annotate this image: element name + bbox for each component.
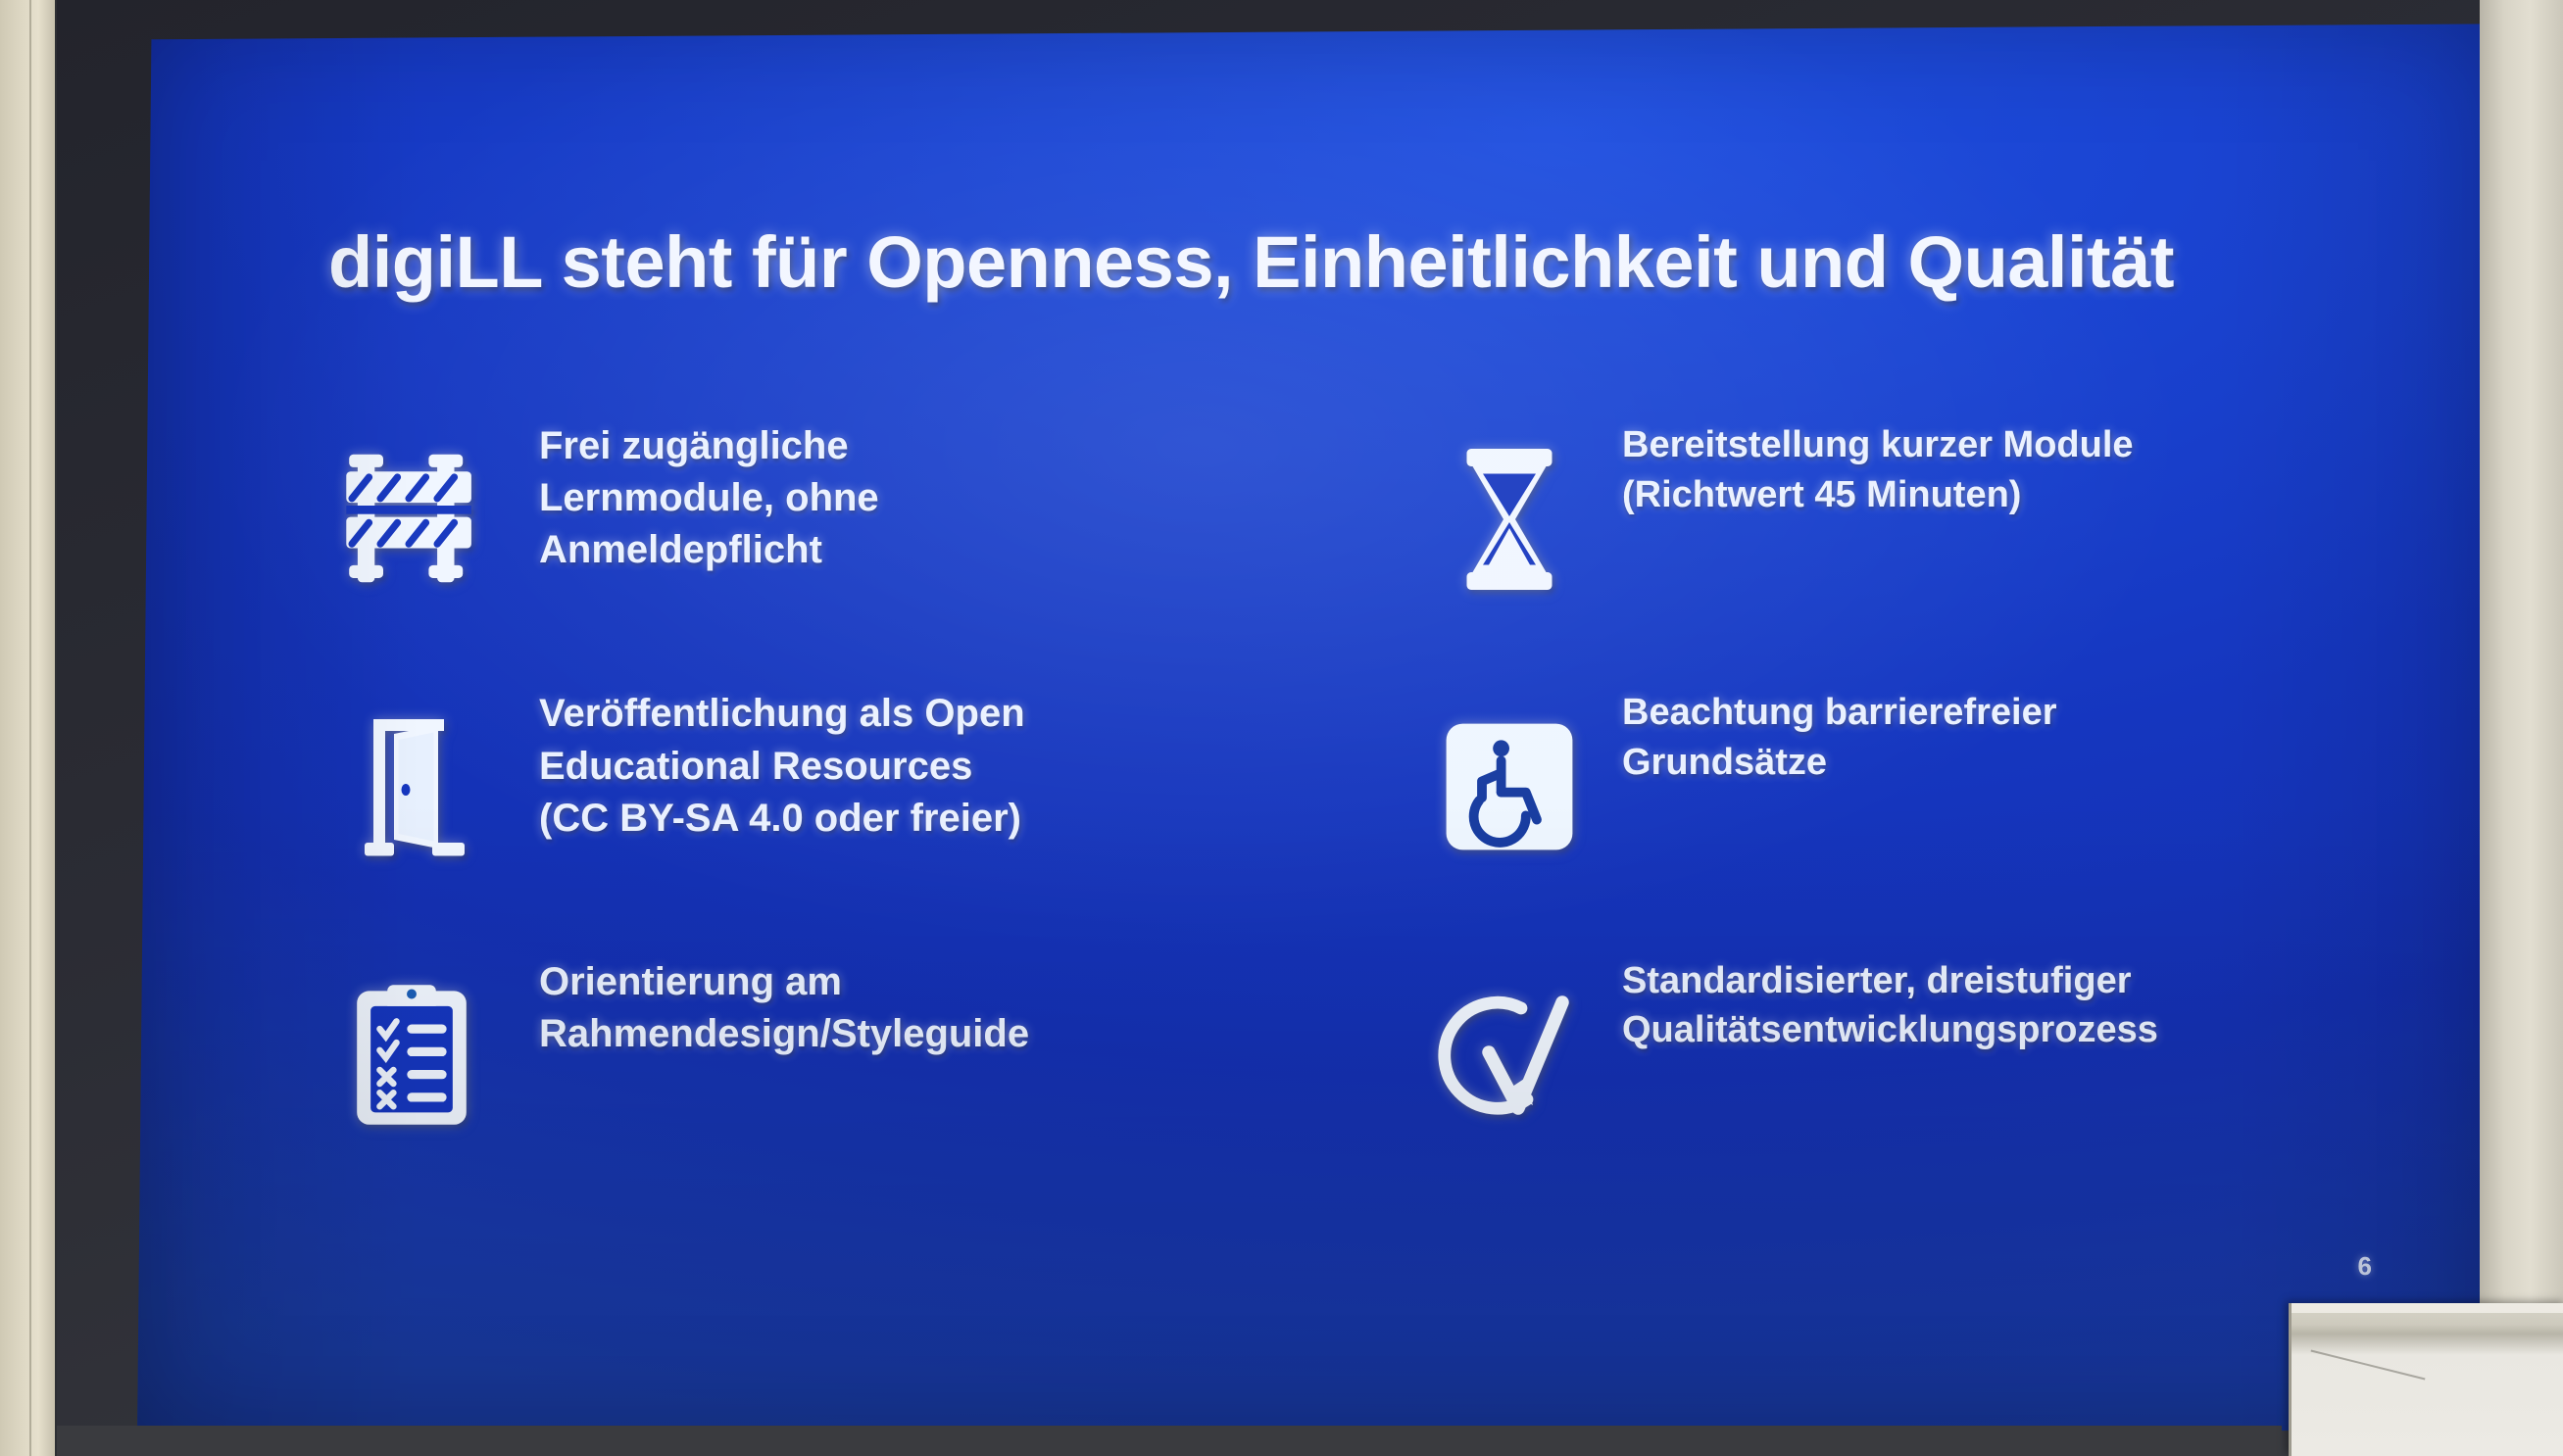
feature-text-open-access: Frei zugängliche Lernmodule, ohne Anmeld… — [539, 407, 1308, 577]
feature-item-accessibility: Beachtung barrierefreier Grundsätze — [1397, 674, 2421, 912]
feature-item-styleguide: Orientierung am Rahmendesign/Styleguide — [284, 943, 1308, 1181]
construction-barrier-icon — [284, 407, 539, 632]
presentation-slide: digiLL steht für Openness, Einheitlichke… — [137, 20, 2499, 1438]
flipchart-crease — [2311, 1350, 2426, 1381]
feature-line: Standardisierter, dreistufiger — [1622, 956, 2421, 1006]
wall-right — [2480, 0, 2563, 1456]
open-door-icon — [284, 674, 539, 899]
circular-arrow-check-icon — [1397, 943, 1622, 1168]
feature-text-accessibility: Beachtung barrierefreier Grundsätze — [1622, 674, 2421, 787]
feature-line: (CC BY-SA 4.0 oder freier) — [539, 793, 1308, 845]
clipboard-checklist-icon — [284, 943, 539, 1168]
slide-title: digiLL steht für Openness, Einheitlichke… — [328, 220, 2347, 304]
floor-strip — [57, 1426, 2282, 1456]
feature-text-module-length: Bereitstellung kurzer Module (Richtwert … — [1622, 407, 2421, 519]
feature-line: Frei zugängliche — [539, 420, 1308, 472]
feature-text-oer-license: Veröffentlichung als Open Educational Re… — [539, 674, 1308, 845]
feature-line: Bereitstellung kurzer Module — [1622, 420, 2421, 470]
wall-left — [0, 0, 55, 1456]
slide-feature-grid: Frei zugängliche Lernmodule, ohne Anmeld… — [284, 407, 2421, 1181]
feature-line: Qualitätsentwicklungsprozess — [1622, 1005, 2421, 1055]
slide-page-number: 6 — [2358, 1251, 2372, 1282]
feature-line: Educational Resources — [539, 741, 1308, 793]
projection-screen-bezel: digiLL steht für Openness, Einheitlichke… — [57, 0, 2480, 1456]
flipchart-board — [2289, 1303, 2563, 1456]
feature-line: Grundsätze — [1622, 738, 2421, 788]
room-scene: digiLL steht für Openness, Einheitlichke… — [0, 0, 2563, 1456]
hourglass-icon — [1397, 407, 1622, 632]
feature-item-quality-process: Standardisierter, dreistufiger Qualitäts… — [1397, 943, 2421, 1181]
feature-line: Beachtung barrierefreier — [1622, 688, 2421, 738]
feature-item-open-access: Frei zugängliche Lernmodule, ohne Anmeld… — [284, 407, 1308, 645]
feature-line: Lernmodule, ohne — [539, 472, 1308, 524]
feature-line: (Richtwert 45 Minuten) — [1622, 470, 2421, 520]
feature-line: Rahmendesign/Styleguide — [539, 1008, 1308, 1060]
feature-text-quality-process: Standardisierter, dreistufiger Qualitäts… — [1622, 943, 2421, 1055]
feature-item-module-length: Bereitstellung kurzer Module (Richtwert … — [1397, 407, 2421, 645]
feature-line: Orientierung am — [539, 956, 1308, 1008]
feature-line: Veröffentlichung als Open — [539, 688, 1308, 740]
wheelchair-accessibility-icon — [1397, 674, 1622, 899]
feature-text-styleguide: Orientierung am Rahmendesign/Styleguide — [539, 943, 1308, 1060]
wall-seam — [29, 0, 31, 1456]
flipchart-top-edge — [2292, 1303, 2563, 1313]
feature-line: Anmeldepflicht — [539, 524, 1308, 576]
feature-item-oer-license: Veröffentlichung als Open Educational Re… — [284, 674, 1308, 912]
